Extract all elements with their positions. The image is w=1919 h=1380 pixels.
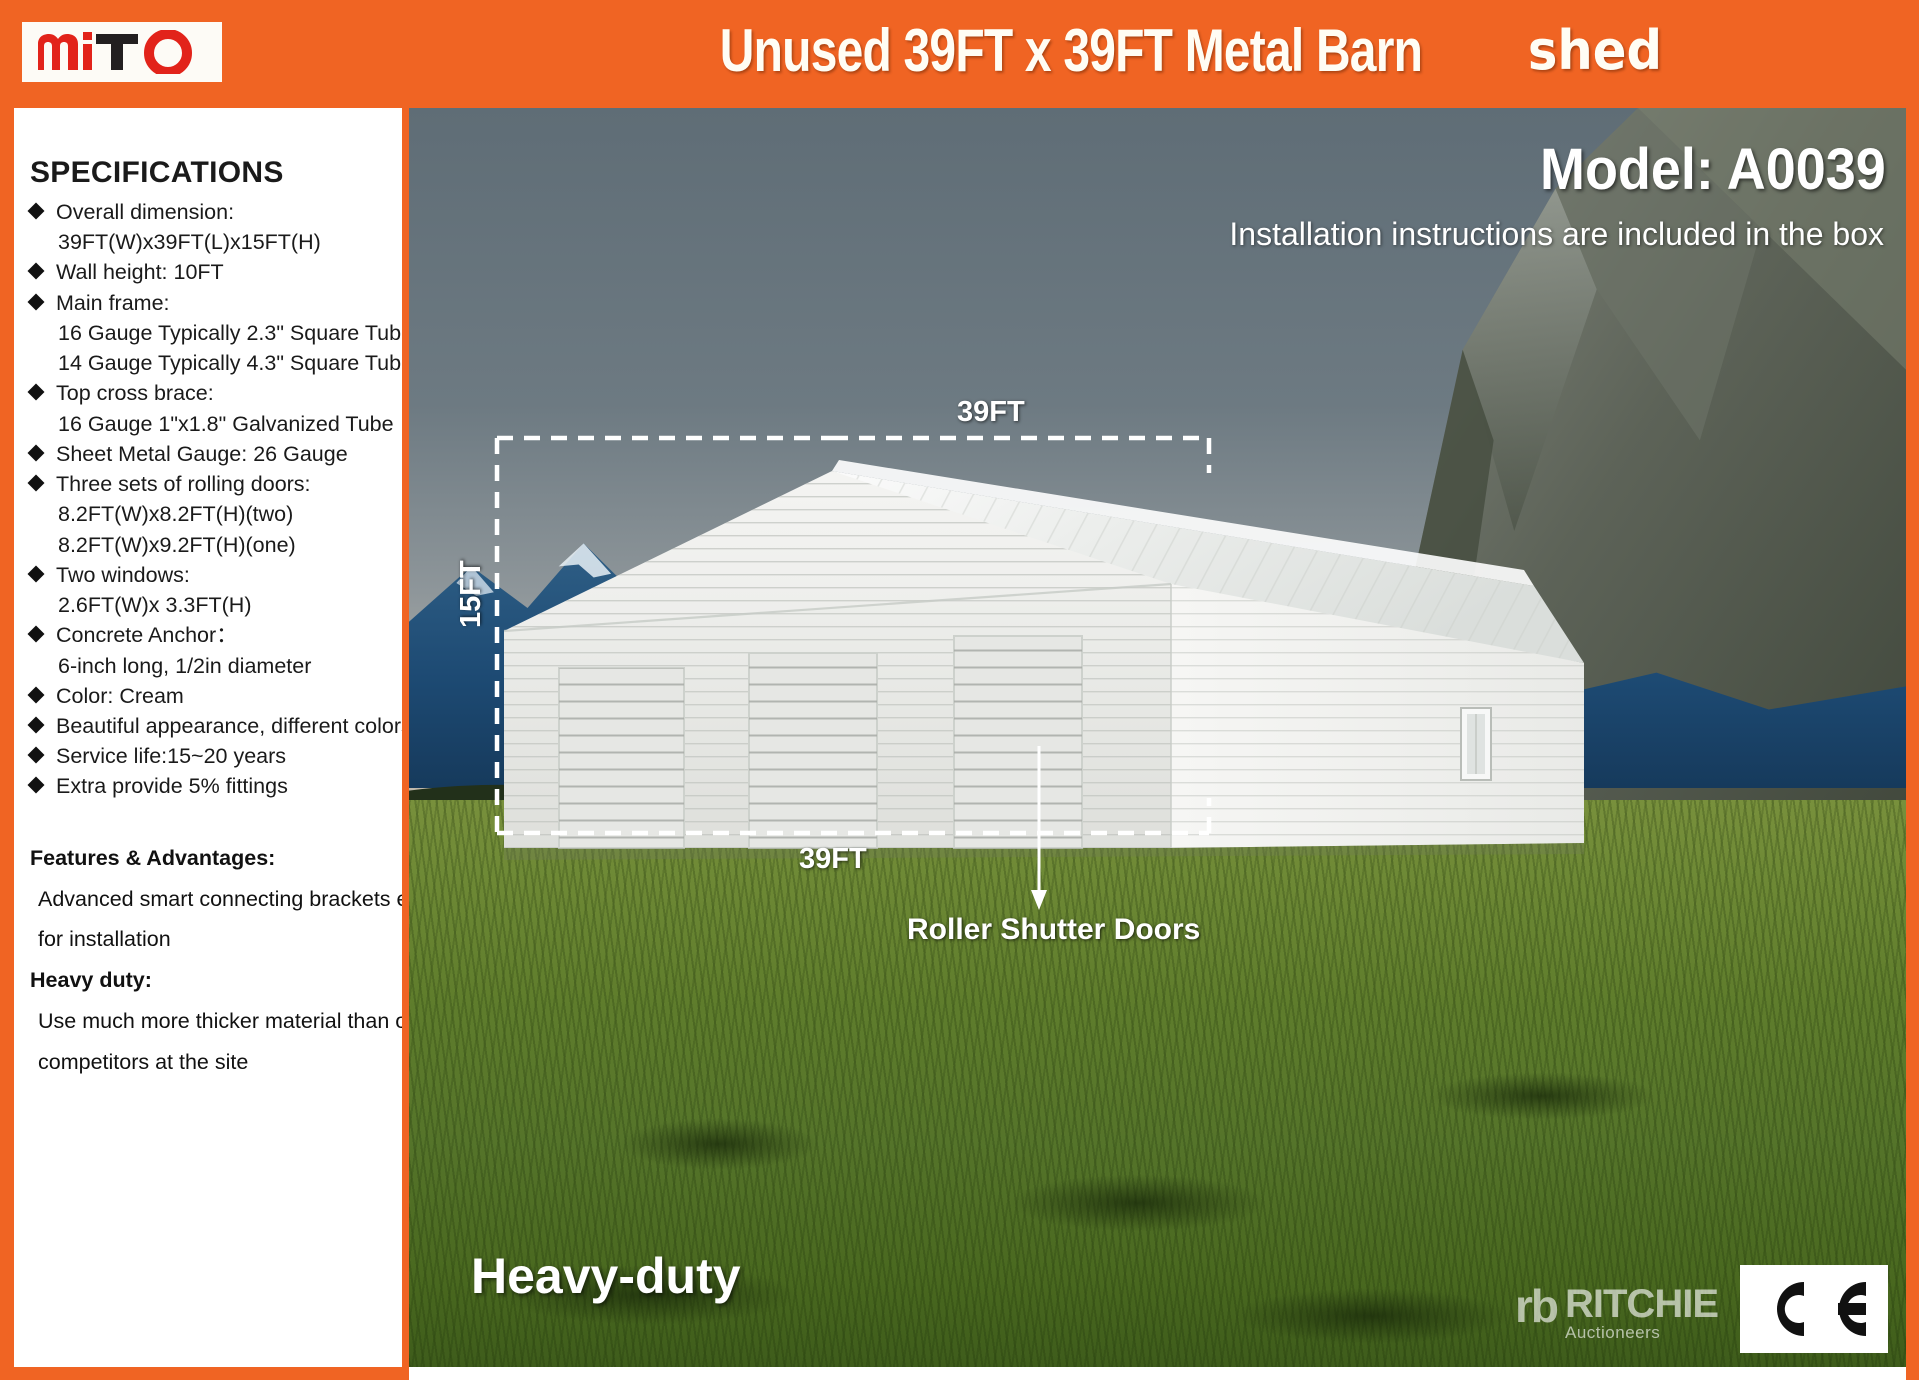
diamond-bullet-icon (28, 716, 45, 733)
spec-item-label: Main frame: (56, 291, 170, 315)
spec-item-label: Overall dimension: (56, 200, 234, 224)
spec-item: Main frame: (30, 289, 402, 318)
spec-item-sub: 14 Gauge Typically 4.3" Square Tube (30, 349, 402, 378)
features-line: Advanced smart connecting brackets easy (30, 879, 402, 920)
page-title-main: Unused 39FT x 39FT Metal Barn (720, 21, 1422, 81)
spec-item: Wall height: 10FT (30, 258, 402, 287)
footer-white-strip (409, 1367, 1906, 1380)
spec-item: Two windows: (30, 561, 402, 590)
page-title-tail: shed (1528, 24, 1662, 78)
spec-item-label: Top cross brace: (56, 381, 214, 405)
spec-item: Top cross brace: (30, 379, 402, 408)
heavy-duty-line: Use much more thicker material than othe… (30, 1001, 402, 1042)
heavy-duty-line: competitors at the site (30, 1042, 402, 1083)
features-heading: Features & Advantages: (30, 838, 402, 879)
spec-item-sub: 16 Gauge Typically 2.3" Square Tube (30, 319, 402, 348)
rb-name: RITCHIE (1565, 1285, 1718, 1323)
ce-mark-icon (1748, 1276, 1880, 1342)
spec-item-sub: 16 Gauge 1"x1.8" Galvanized Tube (30, 410, 402, 439)
diamond-bullet-icon (28, 263, 45, 280)
spec-list: Overall dimension:39FT(W)x39FT(L)x15FT(H… (30, 198, 402, 802)
spec-item-sub: 8.2FT(W)x9.2FT(H)(one) (30, 531, 402, 560)
diamond-bullet-icon (28, 686, 45, 703)
spec-item-label: Concrete Anchor： (56, 623, 238, 647)
spec-item: Service life:15~20 years (30, 742, 402, 771)
spec-item: Sheet Metal Gauge: 26 Gauge (30, 440, 402, 469)
spec-item: Color: Cream (30, 682, 402, 711)
dimension-label-top: 39FT (957, 396, 1025, 429)
model-label: Model: A0039 (1540, 136, 1886, 203)
diamond-bullet-icon (28, 777, 45, 794)
diamond-bullet-icon (28, 626, 45, 643)
header-bar: Unused 39FT x 39FT Metal Barnshed (0, 0, 1919, 100)
spec-item: Concrete Anchor： (30, 621, 402, 650)
diamond-bullet-icon (28, 475, 45, 492)
diamond-bullet-icon (28, 293, 45, 310)
spec-item: Overall dimension: (30, 198, 402, 227)
spec-item-sub: 6-inch long, 1/2in diameter (30, 652, 402, 681)
heavy-duty-tag: Heavy-duty (471, 1247, 741, 1305)
spec-item: Extra provide 5% fittings (30, 772, 402, 801)
features-block: Features & Advantages: Advanced smart co… (30, 838, 402, 1083)
ritchie-bros-logo: rb RITCHIE Auctioneers (1515, 1285, 1718, 1343)
product-spec-poster: Unused 39FT x 39FT Metal Barnshed SPECIF… (0, 0, 1919, 1380)
specifications-panel: SPECIFICATIONS Overall dimension:39FT(W)… (14, 108, 402, 1367)
spec-item-sub: 8.2FT(W)x8.2FT(H)(two) (30, 500, 402, 529)
dimension-label-left: 15FT (455, 560, 488, 628)
spec-item-label: Two windows: (56, 563, 190, 587)
roller-shutter-doors-callout: Roller Shutter Doors (907, 913, 1200, 947)
spec-item: Three sets of rolling doors: (30, 470, 402, 499)
spec-item-label: Beautiful appearance, different colors (56, 714, 402, 738)
diamond-bullet-icon (28, 203, 45, 220)
diamond-bullet-icon (28, 565, 45, 582)
spec-item-label: Color: Cream (56, 684, 184, 708)
page-title: Unused 39FT x 39FT Metal Barnshed (400, 6, 1900, 96)
spec-item: Beautiful appearance, different colors (30, 712, 402, 741)
mito-logo-icon (34, 30, 210, 74)
diamond-bullet-icon (28, 444, 45, 461)
metal-barn-building (409, 108, 1906, 1367)
heavy-duty-heading: Heavy duty: (30, 960, 402, 1001)
ce-mark-badge (1740, 1265, 1888, 1353)
spec-item-sub: 39FT(W)x39FT(L)x15FT(H) (30, 228, 402, 257)
diamond-bullet-icon (28, 747, 45, 764)
diamond-bullet-icon (28, 384, 45, 401)
spec-item-label: Sheet Metal Gauge: 26 Gauge (56, 442, 348, 466)
spec-item-label: Wall height: 10FT (56, 260, 224, 284)
mito-logo (22, 22, 222, 82)
spec-item-label: Three sets of rolling doors: (56, 472, 311, 496)
spec-panel-title: SPECIFICATIONS (30, 156, 402, 190)
features-line: for installation (30, 919, 402, 960)
product-photo: Model: A0039 Installation instructions a… (409, 108, 1906, 1367)
rb-subtitle: Auctioneers (1565, 1323, 1718, 1343)
dimension-label-bottom: 39FT (799, 843, 867, 876)
spec-item-label: Extra provide 5% fittings (56, 774, 288, 798)
spec-item-sub: 2.6FT(W)x 3.3FT(H) (30, 591, 402, 620)
spec-item-label: Service life:15~20 years (56, 744, 286, 768)
rb-mark: rb (1515, 1285, 1557, 1329)
install-note: Installation instructions are included i… (1229, 216, 1884, 253)
